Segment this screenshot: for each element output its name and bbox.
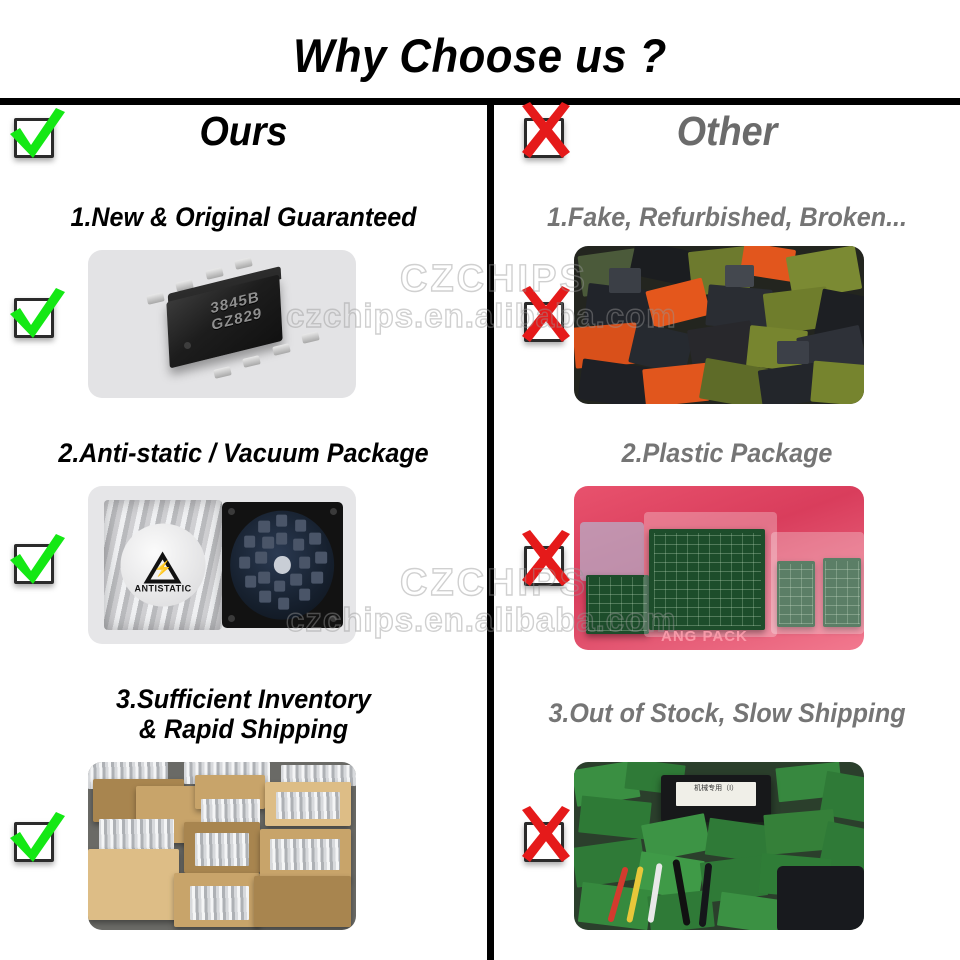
- reel-disc: [230, 511, 334, 620]
- row3-left-heading-line2: & Rapid Shipping: [17, 714, 470, 744]
- cross-icon: [514, 804, 580, 870]
- row2-cross-icon-wrap: [518, 538, 570, 590]
- row1-cross-icon-wrap: [518, 294, 570, 346]
- row3-left-heading-line1: 3.Sufficient Inventory: [17, 684, 470, 714]
- check-icon: [4, 280, 70, 346]
- check-icon-column: [8, 110, 60, 162]
- row1-right-heading: 1.Fake, Refurbished, Broken...: [510, 202, 943, 232]
- row1-check-icon-wrap: [8, 290, 60, 342]
- other-column: Other 1.Fake, Refurbished, Broken...: [494, 98, 960, 960]
- antistatic-bag-and-reel-photo: ⚡ ANTISTATIC: [88, 486, 356, 644]
- cross-icon: [514, 284, 580, 350]
- ours-column: Ours 1.New & Original Guaranteed: [0, 98, 487, 960]
- ic-chip-photo: 3845B GZ829: [88, 250, 356, 398]
- black-pad: [777, 866, 864, 930]
- row1-left-heading: 1.New & Original Guaranteed: [17, 202, 470, 232]
- esd-label-circle: ⚡ ANTISTATIC: [121, 524, 206, 607]
- cross-icon: [514, 100, 580, 166]
- component-reel-tray: [222, 502, 343, 628]
- row2-left-heading: 2.Anti-static / Vacuum Package: [17, 438, 470, 468]
- reel-hub: [274, 556, 291, 573]
- scrap-chips-pile-photo: [574, 246, 864, 404]
- plastic-bagged-pcb-photo: ANG PACK: [574, 486, 864, 650]
- row3-check-icon-wrap: [8, 814, 60, 866]
- scrap-green-pcb-photo: 机械专用（I）: [574, 762, 864, 930]
- row2-check-icon-wrap: [8, 536, 60, 588]
- cross-icon: [514, 528, 580, 594]
- ours-column-heading: Ours: [19, 108, 467, 155]
- inventory-boxes-photo: [88, 762, 356, 930]
- cross-icon-column: [518, 110, 570, 162]
- why-choose-us-infographic: Why Choose us ? Ours 1.New & Original Gu…: [0, 0, 960, 960]
- check-icon: [4, 804, 70, 870]
- check-icon: [4, 100, 70, 166]
- esd-bag: ⚡ ANTISTATIC: [104, 500, 222, 630]
- row3-cross-icon-wrap: [518, 814, 570, 866]
- black-module-box: 机械专用（I）: [661, 775, 771, 822]
- column-divider: [487, 98, 494, 960]
- module-label: 机械专用（I）: [676, 782, 755, 806]
- row3-right-heading: 3.Out of Stock, Slow Shipping: [510, 698, 943, 728]
- pack-watermark-text: ANG PACK: [661, 628, 748, 645]
- antistatic-label: ANTISTATIC: [121, 583, 206, 593]
- page-title: Why Choose us ?: [34, 28, 927, 83]
- row2-right-heading: 2.Plastic Package: [510, 438, 943, 468]
- check-icon: [4, 526, 70, 592]
- lightning-bolt-icon: ⚡: [154, 560, 173, 578]
- row3-left-heading: 3.Sufficient Inventory & Rapid Shipping: [17, 684, 470, 744]
